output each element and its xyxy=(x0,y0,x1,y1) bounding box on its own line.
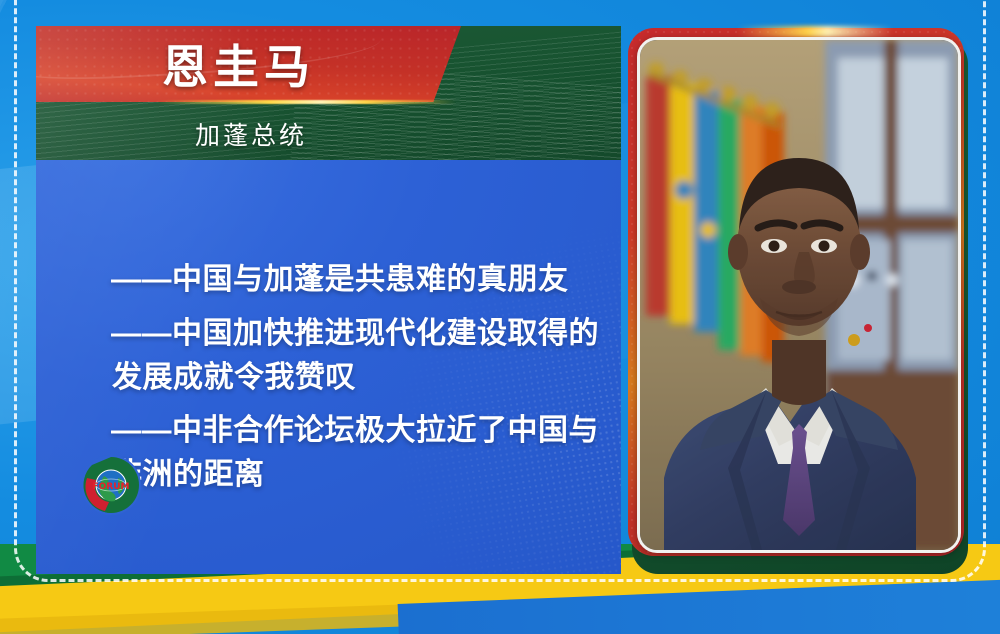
person-name: 恩圭马 xyxy=(36,26,441,102)
portrait-photo xyxy=(637,37,961,553)
person-title: 加蓬总统 xyxy=(36,108,466,160)
quote-line-1: ——中国与加蓬是共患难的真朋友 xyxy=(112,258,602,302)
graphic-stage: 恩圭马 加蓬总统 ——中国与加蓬是共患难的真朋友 ——中国加快推进现代化建设取得… xyxy=(0,0,1000,634)
forum-logo: FORUM xyxy=(80,454,142,516)
quote-list: ——中国与加蓬是共患难的真朋友 ——中国加快推进现代化建设取得的发展成就令我赞叹… xyxy=(112,258,602,507)
quote-line-3: ——中非合作论坛极大拉近了中国与非洲的距离 xyxy=(112,409,602,497)
portrait-photo-frame xyxy=(628,28,968,574)
quote-card: 恩圭马 加蓬总统 ——中国与加蓬是共患难的真朋友 ——中国加快推进现代化建设取得… xyxy=(36,26,621,574)
ribbon-blue-overlay xyxy=(398,572,1000,634)
ribbon-gold-band-secondary xyxy=(0,581,1000,634)
forum-logo-center-text: FORUM xyxy=(93,482,130,492)
quote-line-2: ——中国加快推进现代化建设取得的发展成就令我赞叹 xyxy=(112,312,602,400)
